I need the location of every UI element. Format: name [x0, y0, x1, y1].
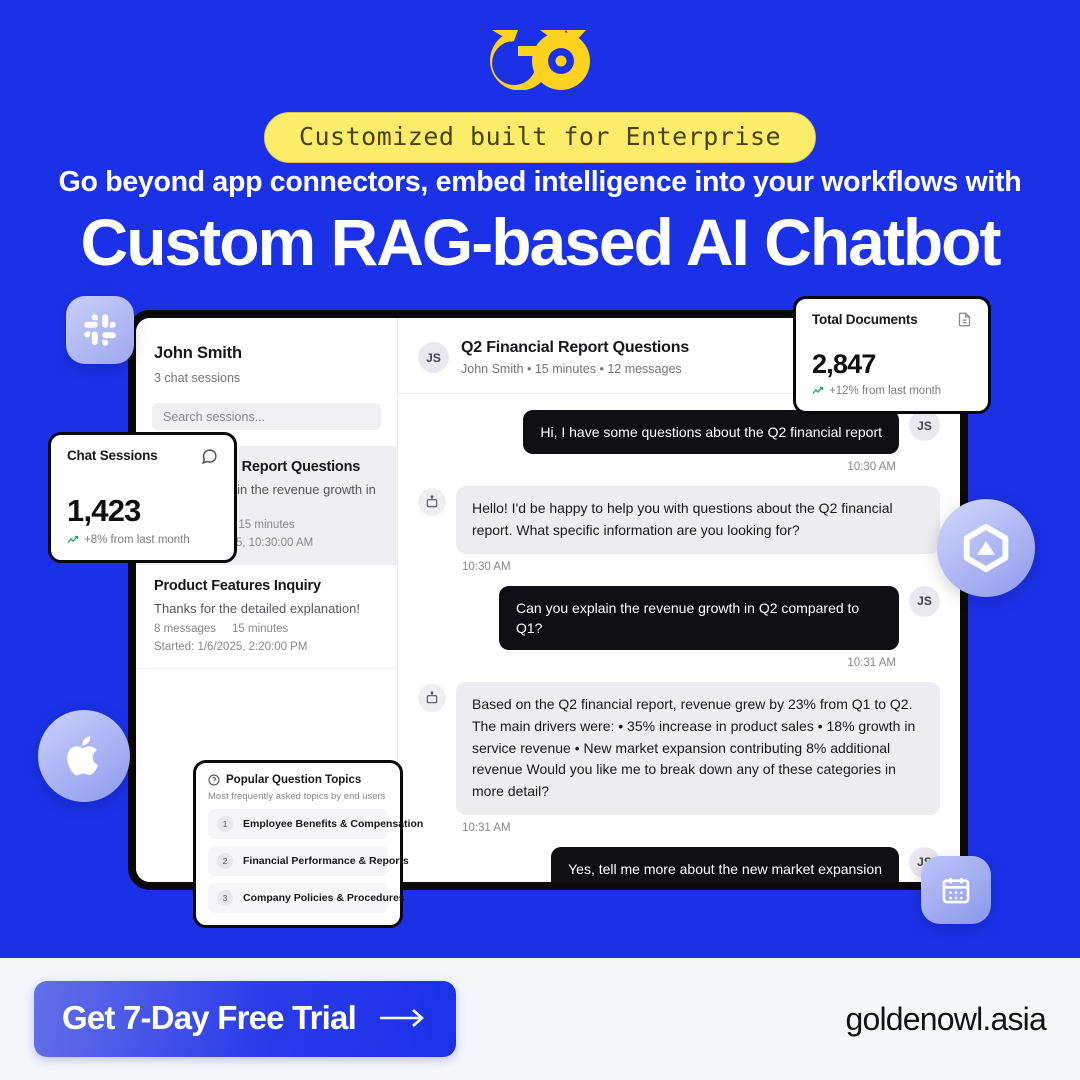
session-duration: 15 minutes [238, 519, 294, 531]
topic-label: Employee Benefits & Compensation [243, 818, 423, 830]
session-meta: 8 messages 15 minutes [154, 623, 379, 635]
search-placeholder-text: Search sessions... [163, 410, 265, 424]
stat-delta-text: +12% from last month [829, 385, 941, 397]
robot-icon [418, 488, 446, 516]
stat-label: Chat Sessions [67, 448, 157, 463]
topic-rank: 2 [217, 853, 233, 869]
robot-glyph [425, 691, 439, 705]
document-icon [957, 312, 972, 327]
stat-value: 2,847 [812, 349, 972, 380]
sidebar-user-name: John Smith [154, 344, 379, 363]
session-title: Product Features Inquiry [154, 578, 379, 594]
session-duration: 15 minutes [232, 623, 288, 635]
brand-logo [0, 28, 1080, 90]
sidebar-header: John Smith 3 chat sessions [136, 318, 397, 397]
apple-glyph [60, 732, 108, 780]
message-timestamp: 10:30 AM [418, 561, 940, 573]
message-row: Yes, tell me more about the new market e… [418, 847, 940, 882]
trend-up-icon [812, 385, 824, 397]
message-bubble-bot: Based on the Q2 financial report, revenu… [456, 682, 940, 814]
sub-headline: Go beyond app connectors, embed intellig… [0, 166, 1080, 199]
cta-free-trial-button[interactable]: Get 7-Day Free Trial [34, 981, 456, 1057]
topic-rank: 1 [217, 816, 233, 832]
sidebar-user-subtitle: 3 chat sessions [154, 371, 379, 385]
avatar: JS [418, 342, 449, 373]
topic-item[interactable]: 2 Financial Performance & Reports [208, 846, 388, 876]
message-row: Can you explain the revenue growth in Q2… [418, 586, 940, 651]
popular-topics-header: Popular Question Topics [208, 774, 388, 786]
arrow-right-icon [378, 1007, 426, 1029]
session-snippet: Thanks for the detailed explanation! [154, 601, 379, 616]
message-timestamp: 10:31 AM [418, 657, 940, 669]
topic-label: Financial Performance & Reports [243, 855, 409, 867]
apple-icon [38, 710, 130, 802]
message-list: Hi, I have some questions about the Q2 f… [398, 394, 960, 882]
avatar: JS [909, 586, 940, 617]
brand-website: goldenowl.asia [845, 1001, 1046, 1038]
golden-owl-go-logo-icon [488, 28, 592, 90]
message-bubble-user: Hi, I have some questions about the Q2 f… [523, 410, 899, 454]
message-row: Hello! I'd be happy to help you with que… [418, 486, 940, 553]
robot-icon [418, 684, 446, 712]
calendar-glyph [940, 874, 972, 906]
topic-item[interactable]: 3 Company Policies & Procedures [208, 883, 388, 913]
drive-icon [937, 499, 1035, 597]
trend-up-icon [67, 534, 79, 546]
main-headline: Custom RAG-based AI Chatbot [0, 206, 1080, 280]
footer-bar: Get 7-Day Free Trial goldenowl.asia [0, 958, 1080, 1080]
session-message-count: 8 messages [154, 623, 216, 635]
message-bubble-user: Yes, tell me more about the new market e… [551, 847, 899, 882]
slack-glyph [83, 313, 117, 347]
stat-card-chat-sessions: Chat Sessions 1,423 +8% from last month [48, 432, 237, 563]
topic-item[interactable]: 1 Employee Benefits & Compensation [208, 809, 388, 839]
topic-rank: 3 [217, 890, 233, 906]
stat-value: 1,423 [67, 493, 218, 529]
popular-topics-subtitle: Most frequently asked topics by end user… [208, 791, 388, 802]
drive-glyph [959, 521, 1013, 575]
message-bubble-user: Can you explain the revenue growth in Q2… [499, 586, 899, 651]
message-timestamp: 10:31 AM [418, 822, 940, 834]
message-bubble-bot: Hello! I'd be happy to help you with que… [456, 486, 940, 553]
chat-meta: John Smith • 15 minutes • 12 messages [461, 362, 689, 376]
popular-topics-title: Popular Question Topics [226, 774, 361, 786]
stat-card-header: Chat Sessions [67, 448, 218, 465]
chat-title: Q2 Financial Report Questions [461, 339, 689, 357]
stat-delta: +12% from last month [812, 385, 972, 397]
cta-label: Get 7-Day Free Trial [62, 999, 356, 1037]
popular-topics-card: Popular Question Topics Most frequently … [193, 760, 403, 928]
stat-delta-text: +8% from last month [84, 534, 190, 546]
avatar: JS [909, 410, 940, 441]
stat-delta: +8% from last month [67, 534, 218, 546]
stat-card-header: Total Documents [812, 312, 972, 327]
session-list-item[interactable]: Product Features Inquiry Thanks for the … [136, 565, 397, 669]
stat-label: Total Documents [812, 312, 918, 327]
calendar-icon [921, 856, 991, 924]
chat-bubble-icon [201, 448, 218, 465]
session-search-input[interactable]: Search sessions... [152, 403, 381, 430]
slack-icon [66, 296, 134, 364]
enterprise-badge: Customized built for Enterprise [264, 112, 816, 163]
message-row: Hi, I have some questions about the Q2 f… [418, 410, 940, 454]
message-timestamp: 10:30 AM [418, 461, 940, 473]
help-circle-icon [208, 774, 220, 786]
message-row: Based on the Q2 financial report, revenu… [418, 682, 940, 814]
robot-glyph [425, 495, 439, 509]
session-started: Started: 1/6/2025, 2:20:00 PM [154, 641, 379, 653]
hero-section: Customized built for Enterprise Go beyon… [0, 0, 1080, 958]
stat-card-total-documents: Total Documents 2,847 +12% from last mon… [793, 296, 991, 414]
topic-label: Company Policies & Procedures [243, 892, 405, 904]
